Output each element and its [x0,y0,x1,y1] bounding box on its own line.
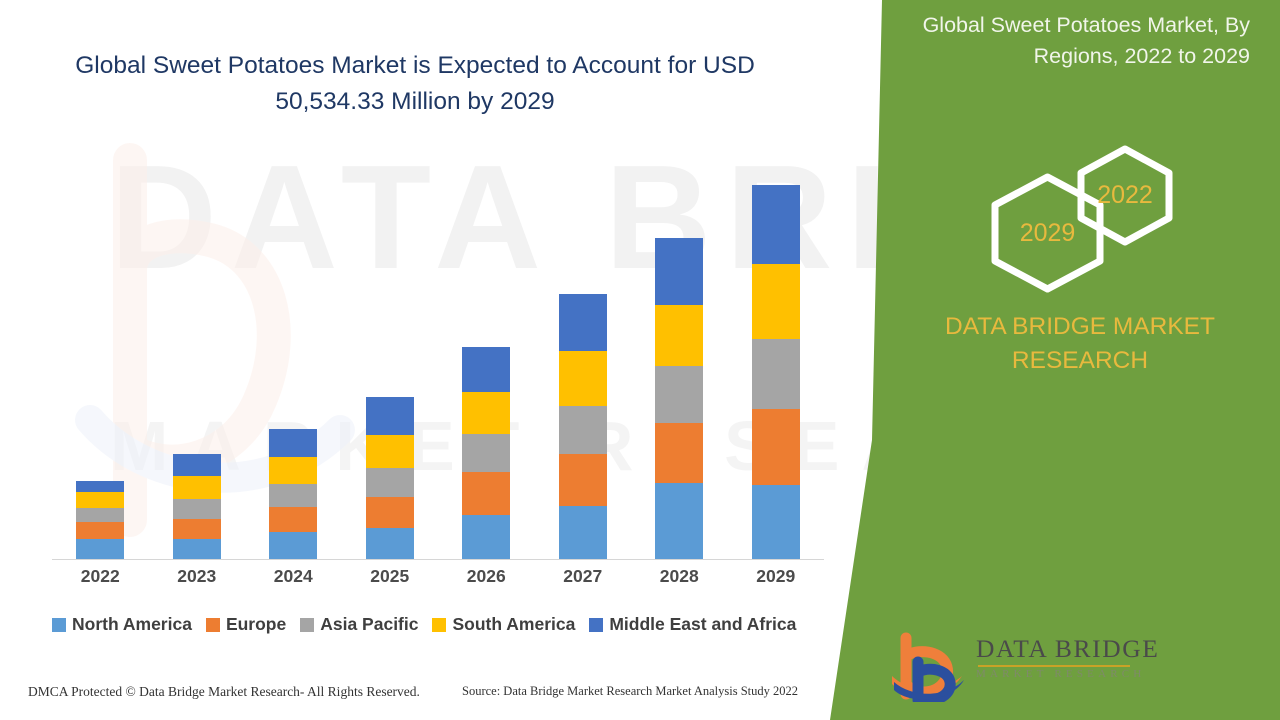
bar-column-2027 [559,294,607,559]
legend-swatch-icon [432,618,446,632]
legend-label: Asia Pacific [320,614,418,635]
hexagon-badge-2022: 2022 [1073,145,1177,246]
x-axis-label-2024: 2024 [269,566,317,587]
bar-segment [655,483,703,559]
bar-segment [76,481,124,492]
bar-segment [269,507,317,532]
chart-legend: North AmericaEuropeAsia PacificSouth Ame… [52,614,832,635]
bar-segment [462,347,510,392]
x-axis-label-2022: 2022 [76,566,124,587]
logo-sub-text: MARKET RESEARCH [976,668,1136,680]
x-axis-label-2025: 2025 [366,566,414,587]
bar-segment [752,264,800,339]
hexagon-label-2022: 2022 [1073,145,1177,246]
bar-segment [655,305,703,366]
stacked-bar-chart [52,150,824,560]
bar-segment [559,406,607,454]
brand-name: DATA BRIDGE MARKET RESEARCH [880,310,1280,378]
bar-segment [366,497,414,528]
bar-segment [173,519,221,539]
x-axis-label-2028: 2028 [655,566,703,587]
bar-segment [366,468,414,497]
logo-divider [978,665,1130,667]
bar-segment [462,515,510,559]
x-axis-labels: 20222023202420252026202720282029 [52,566,824,587]
bar-segment [752,339,800,409]
bar-segment [269,484,317,507]
bar-segment [173,499,221,519]
legend-swatch-icon [206,618,220,632]
bar-segment [366,435,414,468]
panel-title: Global Sweet Potatoes Market, By Regions… [890,10,1250,71]
legend-swatch-icon [589,618,603,632]
bar-segment [559,506,607,559]
bar-segment [366,397,414,435]
bar-segment [462,434,510,472]
legend-item-south-america[interactable]: South America [432,614,575,635]
page-title: Global Sweet Potatoes Market is Expected… [40,48,790,119]
x-axis-label-2026: 2026 [462,566,510,587]
bar-segment [76,539,124,559]
bar-segment [559,351,607,406]
bar-segment [76,492,124,508]
logo-main-text: DATA BRIDGE [976,636,1136,663]
logo-text-block: DATA BRIDGE MARKET RESEARCH [976,636,1136,680]
bar-segment [269,457,317,484]
bar-segment [462,392,510,434]
plot-area [52,150,824,560]
bar-segment [173,539,221,559]
legend-label: South America [452,614,575,635]
data-bridge-logo-icon [888,632,966,702]
bar-column-2028 [655,238,703,559]
legend-label: Europe [226,614,286,635]
legend-item-middle-east-and-africa[interactable]: Middle East and Africa [589,614,796,635]
bar-segment [655,423,703,483]
bar-column-2024 [269,429,317,559]
x-axis-label-2023: 2023 [173,566,221,587]
bar-segment [559,294,607,351]
bar-segment [655,238,703,305]
x-axis-label-2029: 2029 [752,566,800,587]
legend-label: Middle East and Africa [609,614,796,635]
bar-segment [752,409,800,485]
bar-segment [173,476,221,499]
bar-column-2023 [173,454,221,559]
legend-label: North America [72,614,192,635]
copyright-notice: DMCA Protected © Data Bridge Market Rese… [28,684,420,700]
x-axis-label-2027: 2027 [559,566,607,587]
bar-segment [462,472,510,515]
bar-segment [173,454,221,476]
bar-column-2029 [752,185,800,559]
bar-segment [752,185,800,264]
legend-item-asia-pacific[interactable]: Asia Pacific [300,614,418,635]
bar-column-2026 [462,347,510,559]
legend-swatch-icon [300,618,314,632]
bar-segment [269,532,317,559]
source-note: Source: Data Bridge Market Research Mark… [462,684,798,699]
hexagon-badge-group: 2029 2022 [985,145,1185,295]
infographic-canvas: DATA BRIDGE MARKET RESEARCH Global Sweet… [0,0,1280,720]
x-axis-line [52,559,824,560]
legend-item-europe[interactable]: Europe [206,614,286,635]
bar-segment [366,528,414,559]
bar-segment [752,485,800,559]
bar-column-2022 [76,481,124,559]
data-bridge-logo: DATA BRIDGE MARKET RESEARCH [888,630,1128,704]
bar-segment [655,366,703,423]
bar-group [52,150,824,559]
bar-segment [269,429,317,457]
bar-segment [76,508,124,522]
bar-segment [76,522,124,539]
bar-segment [559,454,607,506]
bar-column-2025 [366,397,414,559]
legend-item-north-america[interactable]: North America [52,614,192,635]
legend-swatch-icon [52,618,66,632]
